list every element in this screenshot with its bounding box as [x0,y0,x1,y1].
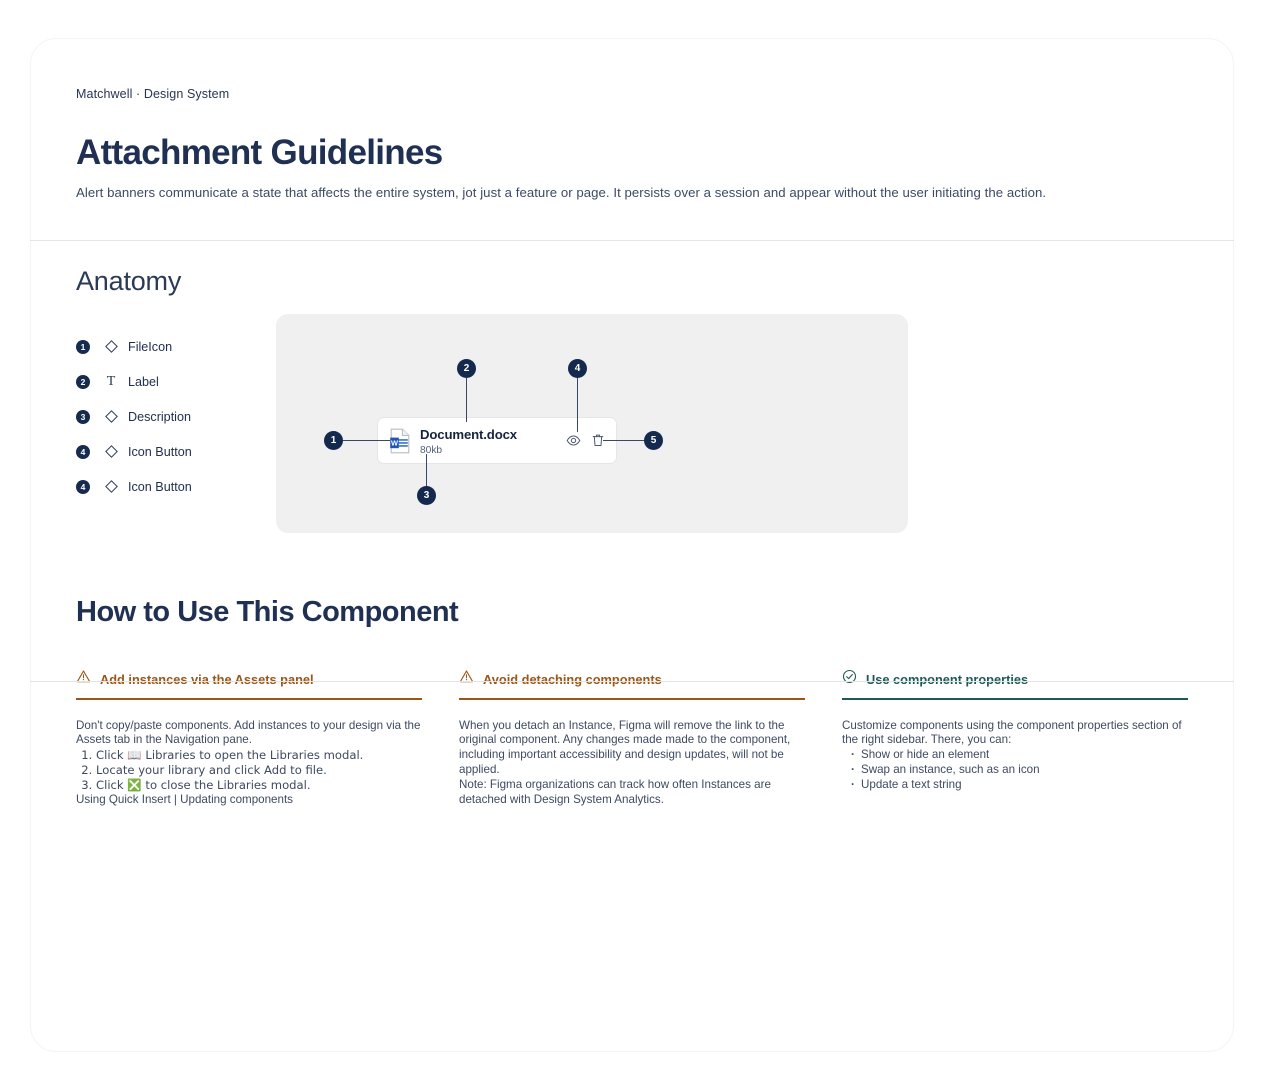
card-step: Click ❎ to close the Libraries modal. [96,778,422,793]
howto-title: How to Use This Component [76,596,1188,629]
card-rule [842,698,1188,700]
legend-badge: 4 [76,445,90,459]
legend-badge: 4 [76,480,90,494]
leader-line-2 [466,378,467,422]
attachment-file-name: Document.docx [420,427,517,442]
card-step: Locate your library and click Add to fil… [96,763,422,778]
card-header: Avoid detaching components [459,669,805,698]
callout-badge-1: 1 [324,431,343,450]
card-note: Note: Figma organizations can track how … [459,778,805,808]
diamond-icon [100,447,122,456]
anatomy-section: Anatomy 1 FileIcon 2 T Label 3 Descripti… [76,266,1188,504]
legend-label: FileIcon [128,340,172,354]
anatomy-preview-panel: 2 4 1 5 3 [276,314,908,533]
card-header: Add instances via the Assets panel [76,669,422,698]
attachment-card[interactable]: W Document.docx 80kb [377,417,617,464]
callout-badge-3: 3 [417,486,436,505]
page-title: Attachment Guidelines [76,133,1188,173]
card-bullets: Show or hide an element Swap an instance… [842,748,1188,792]
callout-badge-5: 5 [644,431,663,450]
svg-text:W: W [391,438,398,447]
attachment-actions [566,433,605,448]
section-divider-top [30,240,1234,241]
leader-line-5 [603,440,645,441]
howto-section: How to Use This Component Add instances … [76,596,1188,808]
breadcrumb: Matchwell · Design System [76,0,1188,101]
callout-badge-4: 4 [568,359,587,378]
word-document-icon: W [389,428,411,454]
legend-label: Label [128,375,159,389]
howto-card-assets-panel: Add instances via the Assets panel Don't… [76,669,422,808]
text-tool-icon: T [100,374,122,390]
card-rule [459,698,805,700]
card-title: Use component properties [866,672,1028,687]
card-body: Customize components using the component… [842,719,1188,793]
howto-card-avoid-detaching: Avoid detaching components When you deta… [459,669,805,808]
warning-triangle-icon [76,669,91,689]
leader-line-1 [343,440,390,441]
legend-label: Description [128,410,191,424]
card-rule [76,698,422,700]
check-circle-icon [842,669,857,689]
legend-badge: 3 [76,410,90,424]
diamond-icon [100,412,122,421]
legend-label: Icon Button [128,480,192,494]
leader-line-3 [426,454,427,488]
preview-icon[interactable] [566,433,581,448]
card-intro: Customize components using the component… [842,719,1188,749]
card-title: Add instances via the Assets panel [100,672,314,687]
attachment-texts: Document.docx 80kb [420,426,566,456]
howto-card-component-properties: Use component properties Customize compo… [842,669,1188,808]
diamond-icon [100,482,122,491]
card-footer: Using Quick Insert | Updating components [76,793,422,808]
legend-badge: 2 [76,375,90,389]
warning-triangle-icon [459,669,474,689]
howto-cards: Add instances via the Assets panel Don't… [76,669,1188,808]
card-header: Use component properties [842,669,1188,698]
card-title: Avoid detaching components [483,672,662,687]
page-subtitle: Alert banners communicate a state that a… [76,185,1188,200]
card-body: When you detach an Instance, Figma will … [459,719,805,808]
page-content: Matchwell · Design System Attachment Gui… [0,0,1264,808]
callout-badge-2: 2 [457,359,476,378]
section-divider-bottom [30,681,1234,682]
card-bullet: Update a text string [851,778,1188,793]
diamond-icon [100,342,122,351]
legend-label: Icon Button [128,445,192,459]
card-bullet: Show or hide an element [851,748,1188,763]
leader-line-4 [577,378,578,432]
card-step: Click 📖 Libraries to open the Libraries … [96,748,422,763]
card-intro: Don't copy/paste components. Add instanc… [76,719,422,749]
card-steps: Click 📖 Libraries to open the Libraries … [76,748,422,792]
card-bullet: Swap an instance, such as an icon [851,763,1188,778]
card-intro: When you detach an Instance, Figma will … [459,719,805,778]
legend-badge: 1 [76,340,90,354]
anatomy-title: Anatomy [76,266,1188,297]
card-body: Don't copy/paste components. Add instanc… [76,719,422,808]
attachment-file-size: 80kb [420,445,566,456]
